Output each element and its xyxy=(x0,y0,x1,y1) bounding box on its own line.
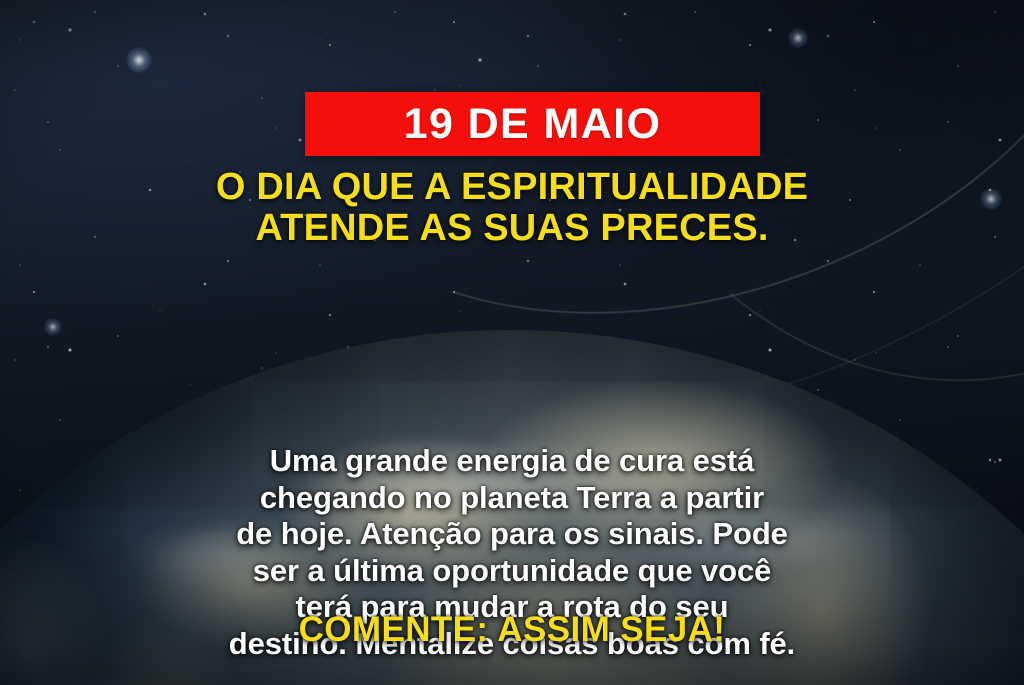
call-to-action-text: COMENTE: ASSIM SEJA! xyxy=(0,612,1024,647)
date-banner: 19 DE MAIO xyxy=(305,92,760,156)
headline-text: O DIA QUE A ESPIRITUALIDADE ATENDE AS SU… xyxy=(0,167,1024,248)
poster-content: 19 DE MAIO O DIA QUE A ESPIRITUALIDADE A… xyxy=(0,0,1024,685)
date-banner-label: 19 DE MAIO xyxy=(404,103,662,146)
social-media-poster: 19 DE MAIO O DIA QUE A ESPIRITUALIDADE A… xyxy=(0,0,1024,685)
